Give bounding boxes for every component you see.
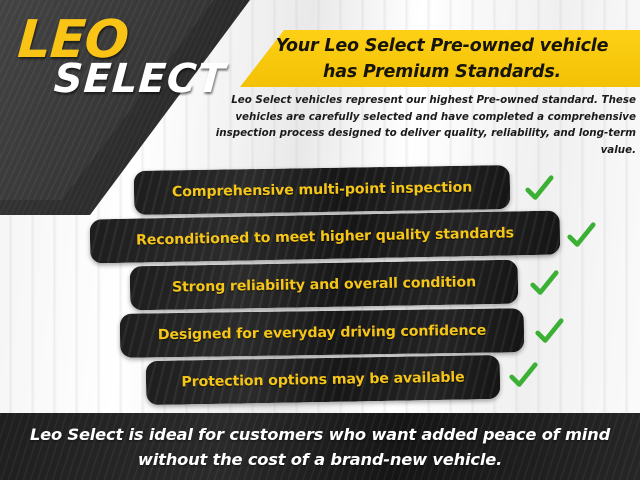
- page-title: Your Leo Select Pre-owned vehicle has Pr…: [248, 33, 636, 85]
- feature-pill: Comprehensive multi-point inspection: [134, 165, 511, 215]
- check-icon: [508, 361, 538, 391]
- headline-line-1: Your Leo Select Pre-owned vehicle: [248, 33, 636, 59]
- list-item: Strong reliability and overall condition: [0, 263, 640, 307]
- list-item: Reconditioned to meet higher quality sta…: [0, 215, 640, 259]
- slide-canvas: LEO SELECT Your Leo Select Pre-owned veh…: [0, 0, 640, 480]
- list-item: Comprehensive multi-point inspection: [0, 168, 640, 212]
- check-icon: [529, 269, 559, 299]
- feature-label: Reconditioned to meet higher quality sta…: [136, 225, 514, 248]
- feature-list: Comprehensive multi-point inspection Rec…: [0, 168, 640, 400]
- check-icon: [566, 221, 596, 251]
- check-icon: [524, 174, 554, 204]
- feature-pill: Reconditioned to meet higher quality sta…: [90, 210, 561, 263]
- feature-pill: Designed for everyday driving confidence: [120, 308, 525, 358]
- feature-pill: Protection options may be available: [146, 355, 501, 405]
- headline-line-2: has Premium Standards.: [248, 59, 636, 85]
- feature-pill: Strong reliability and overall condition: [130, 260, 519, 311]
- footer-text: Leo Select is ideal for customers who wa…: [20, 422, 620, 472]
- feature-label: Strong reliability and overall condition: [172, 274, 476, 295]
- list-item: Protection options may be available: [0, 358, 640, 402]
- feature-label: Designed for everyday driving confidence: [158, 323, 486, 344]
- feature-label: Protection options may be available: [181, 370, 464, 391]
- check-icon: [534, 317, 564, 347]
- intro-paragraph: Leo Select vehicles represent our highes…: [214, 92, 636, 158]
- leo-select-logo: LEO SELECT: [18, 18, 248, 98]
- feature-label: Comprehensive multi-point inspection: [172, 180, 472, 201]
- list-item: Designed for everyday driving confidence: [0, 311, 640, 355]
